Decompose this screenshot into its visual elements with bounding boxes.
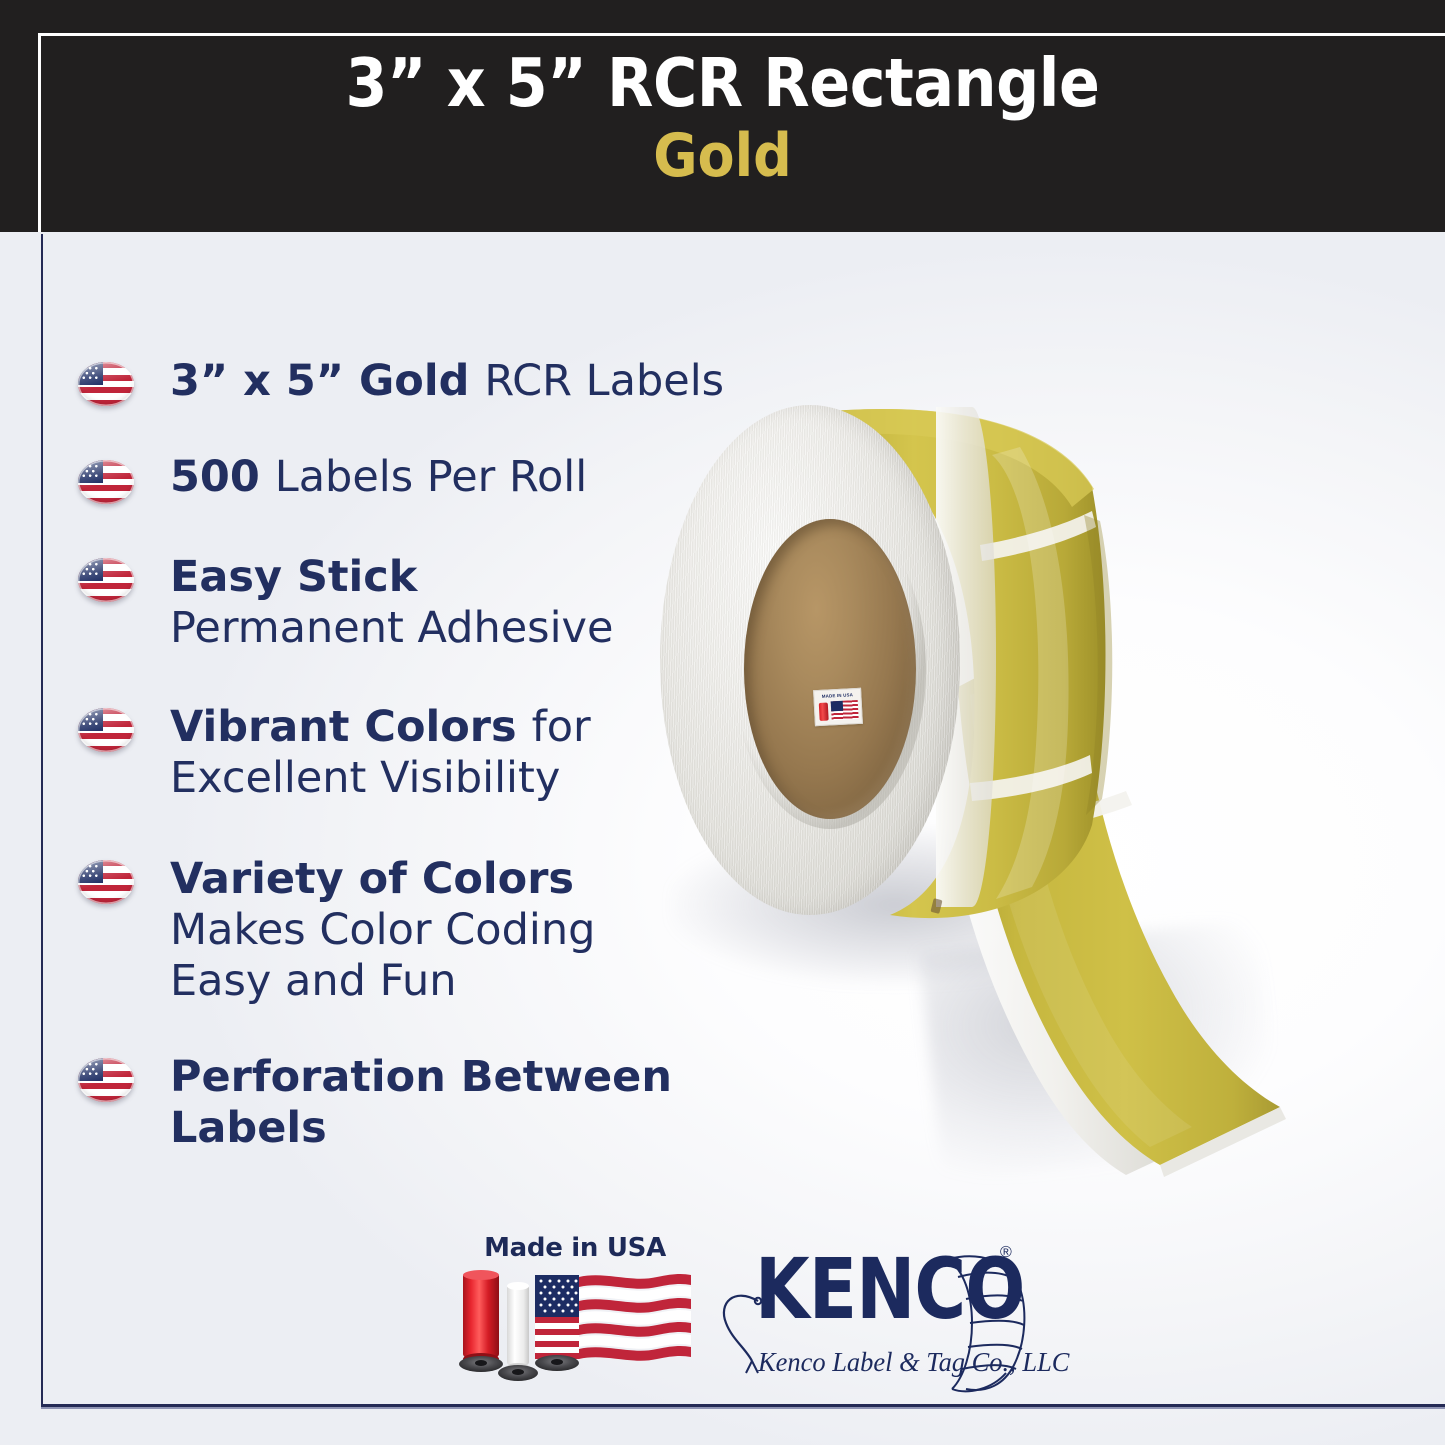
feature-bold: Easy Stick	[170, 552, 417, 602]
feature-bold: 500	[170, 452, 275, 502]
footer: Made in USA	[0, 1215, 1445, 1415]
made-in-usa-label: Made in USA	[455, 1233, 695, 1263]
core-sticker-text: MADE IN USA	[814, 692, 860, 699]
list-item: Vibrant Colors for Excellent Visibility	[78, 702, 738, 854]
core-sticker-flag-icon	[831, 700, 859, 720]
list-item: 500 Labels Per Roll	[78, 452, 738, 552]
usa-flag-badge-icon	[78, 558, 134, 602]
roll-body: MADE IN USA	[640, 395, 1340, 1095]
usa-flag-badge-icon	[78, 708, 134, 752]
feature-bold: Perforation Between	[170, 1052, 672, 1102]
gold-label-roll-photo: MADE IN USA	[640, 395, 1340, 1175]
usa-flag-badge-icon	[78, 860, 134, 904]
cardboard-core: MADE IN USA	[744, 519, 916, 819]
kenco-logo: ® KENCO Kenco Label & Tag Co., LLC	[700, 1237, 1030, 1397]
feature-bold: Variety of Colors	[170, 854, 574, 904]
feature-normal: Labels Per Roll	[275, 452, 587, 502]
feature-normal: for	[532, 702, 591, 752]
usa-flag-badge-icon	[78, 362, 134, 406]
core-sticker-roll-icon	[819, 703, 829, 721]
ribbon-rolls-and-flag-icon	[455, 1267, 695, 1387]
feature-bold: 3” x 5” Gold	[170, 356, 484, 406]
feature-bold: Labels	[170, 1103, 327, 1153]
made-in-usa-block: Made in USA	[455, 1233, 695, 1263]
list-item: 3” x 5” Gold RCR Labels	[78, 356, 738, 452]
page-subtitle-color: Gold	[72, 124, 1373, 188]
list-item: Easy Stick Permanent Adhesive	[78, 552, 738, 702]
page-title: 3” x 5” RCR Rectangle	[72, 46, 1373, 120]
title-block: 3” x 5” RCR Rectangle Gold	[0, 46, 1445, 188]
infographic-page: 3” x 5” RCR Rectangle Gold 3” x 5” Gold …	[0, 0, 1445, 1445]
usa-flag-badge-icon	[78, 460, 134, 504]
list-item: Perforation Between Labels	[78, 1052, 738, 1162]
header-banner: 3” x 5” RCR Rectangle Gold	[0, 0, 1445, 232]
brand-tagline: Kenco Label & Tag Co., LLC	[758, 1347, 1069, 1378]
feature-list: 3” x 5” Gold RCR Labels 500 Labels Per R…	[78, 356, 738, 1162]
roll-liner-face: MADE IN USA	[660, 405, 960, 915]
usa-flag-badge-icon	[78, 1058, 134, 1102]
list-item: Variety of Colors Makes Color Coding Eas…	[78, 854, 738, 1052]
feature-bold: Vibrant Colors	[170, 702, 532, 752]
brand-name: KENCO	[755, 1247, 1024, 1331]
core-made-in-usa-sticker: MADE IN USA	[813, 688, 863, 726]
